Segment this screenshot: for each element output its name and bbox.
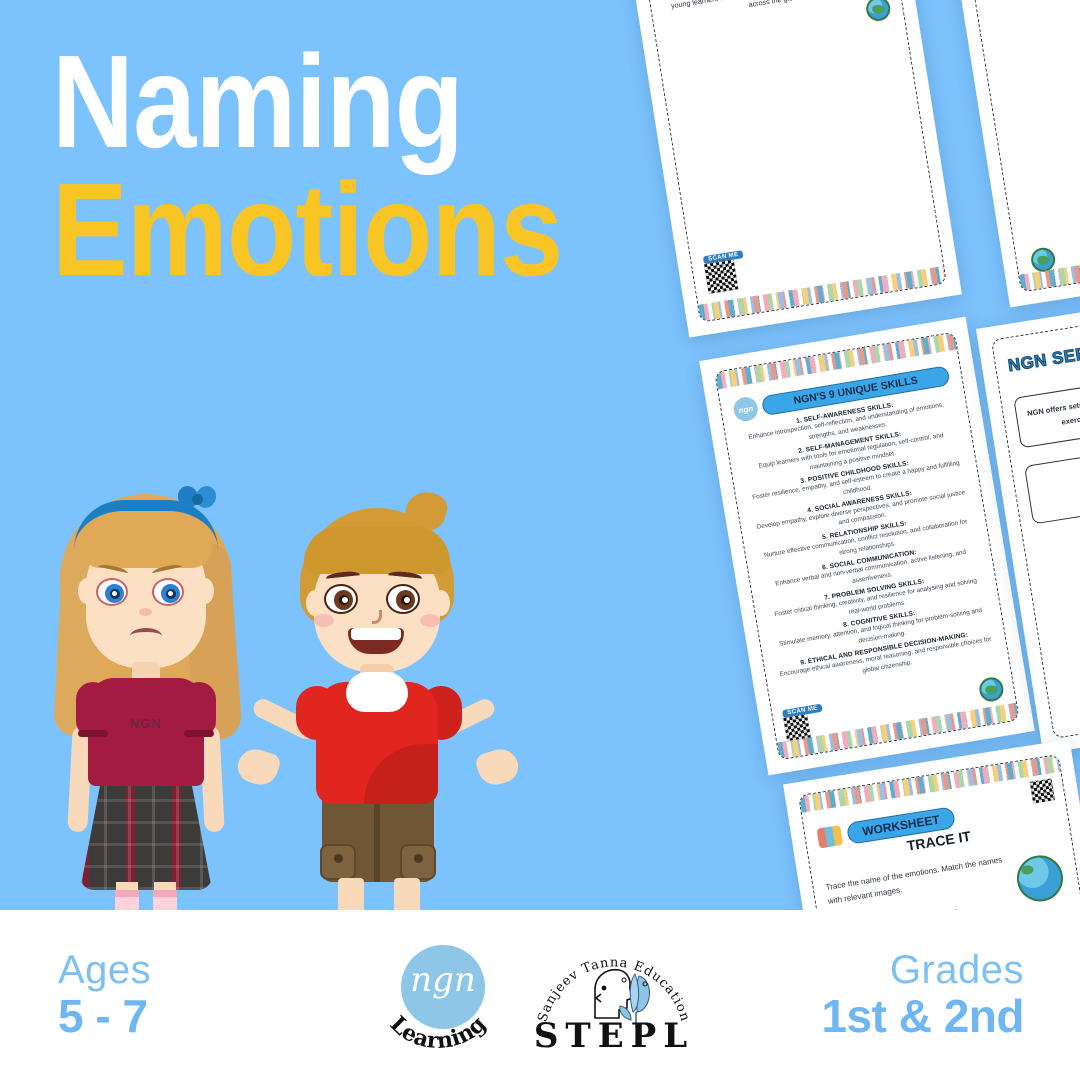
ngn-badge-icon: ngn [732, 395, 760, 423]
card-worksheet-inner: WORKSHEET TRACE IT Trace the name of the… [798, 754, 1080, 910]
svg-text:Learning: Learning [385, 1011, 491, 1054]
title-line-2: Emotions [52, 168, 534, 292]
stepl-wordmark: STEPL [521, 1016, 707, 1056]
girl-eye-left [96, 578, 128, 606]
logo-group: ngn Learning Sanjeev Tanna Education [373, 932, 707, 1058]
stepl-logo: Sanjeev Tanna Education [521, 932, 707, 1058]
sad-girl-illustration: NGN [36, 486, 256, 910]
boy-collar [346, 672, 408, 712]
boy-eye-left [324, 584, 358, 614]
boy-pocket-right [400, 844, 436, 880]
girl-nose [139, 608, 152, 616]
ages-label: Ages [58, 949, 151, 991]
girl-plaid-skirt [80, 780, 212, 890]
girl-sock-right [153, 890, 177, 910]
globe-icon [978, 676, 1006, 704]
ages-block: Ages 5 - 7 [0, 949, 330, 1042]
globe-icon [865, 0, 892, 23]
qr-code-icon[interactable] [704, 260, 738, 294]
happy-boy-illustration [238, 486, 538, 910]
seel-heading: NGN SEEL [1007, 324, 1080, 376]
poster-canvas: Naming Emotions [0, 0, 1080, 1080]
grades-value: 1st & 2nd [821, 991, 1024, 1042]
girl-cuff-left [78, 730, 108, 737]
footer-bar: Ages 5 - 7 ngn Learning Sanjeev Tanna Ed… [0, 910, 1080, 1080]
ngn-learning-logo: ngn Learning [373, 935, 503, 1055]
girl-hair-bow [178, 486, 218, 512]
globe-emoji-angry-icon [1014, 852, 1067, 905]
girl-shirt-logo-text: NGN [100, 716, 192, 731]
card-global-citizenship[interactable]: ngn With NGN SEEL's learning materials u… [586, 0, 962, 338]
svg-text:Sanjeev Tanna Education: Sanjeev Tanna Education [535, 955, 692, 1023]
girl-frown-mouth [130, 628, 162, 644]
boy-eye-right [386, 584, 420, 614]
title-line-1: Naming [52, 40, 534, 164]
girl-eye-right [152, 578, 184, 606]
card-global-citizenship-inner: ngn With NGN SEEL's learning materials u… [601, 0, 947, 323]
boy-cheek-left [314, 614, 334, 627]
ages-value: 5 - 7 [58, 991, 148, 1042]
seel-body: NGN offers setup, activities, worksheets… [1013, 365, 1080, 447]
skills-list: 1. SELF-AWARENESS SKILLS:Enhance introsp… [737, 392, 996, 690]
card-nine-unique-skills-inner: ngn NGN'S 9 UNIQUE SKILLS 1. SELF-AWAREN… [714, 332, 1020, 761]
page-title: Naming Emotions [52, 40, 612, 292]
seel-note-1: SE- [1035, 447, 1080, 493]
boy-fringe [304, 526, 450, 574]
boy-hand-right [474, 745, 523, 790]
ngn-logo-curved-word-icon: Learning [373, 935, 503, 1055]
grades-label: Grades [890, 949, 1024, 991]
girl-cuff-right [184, 730, 214, 737]
girl-sock-left [115, 890, 139, 910]
boy-hand-left [234, 745, 283, 790]
hero-panel: Naming Emotions [0, 0, 1080, 910]
kids-illustration-icon [816, 825, 843, 849]
boy-leg-left [338, 878, 364, 910]
grades-block: Grades 1st & 2nd [750, 949, 1080, 1042]
boy-leg-right [394, 878, 420, 910]
boy-pocket-left [320, 844, 356, 880]
qr-code-icon[interactable] [1030, 778, 1055, 803]
boy-cheek-right [420, 614, 440, 627]
